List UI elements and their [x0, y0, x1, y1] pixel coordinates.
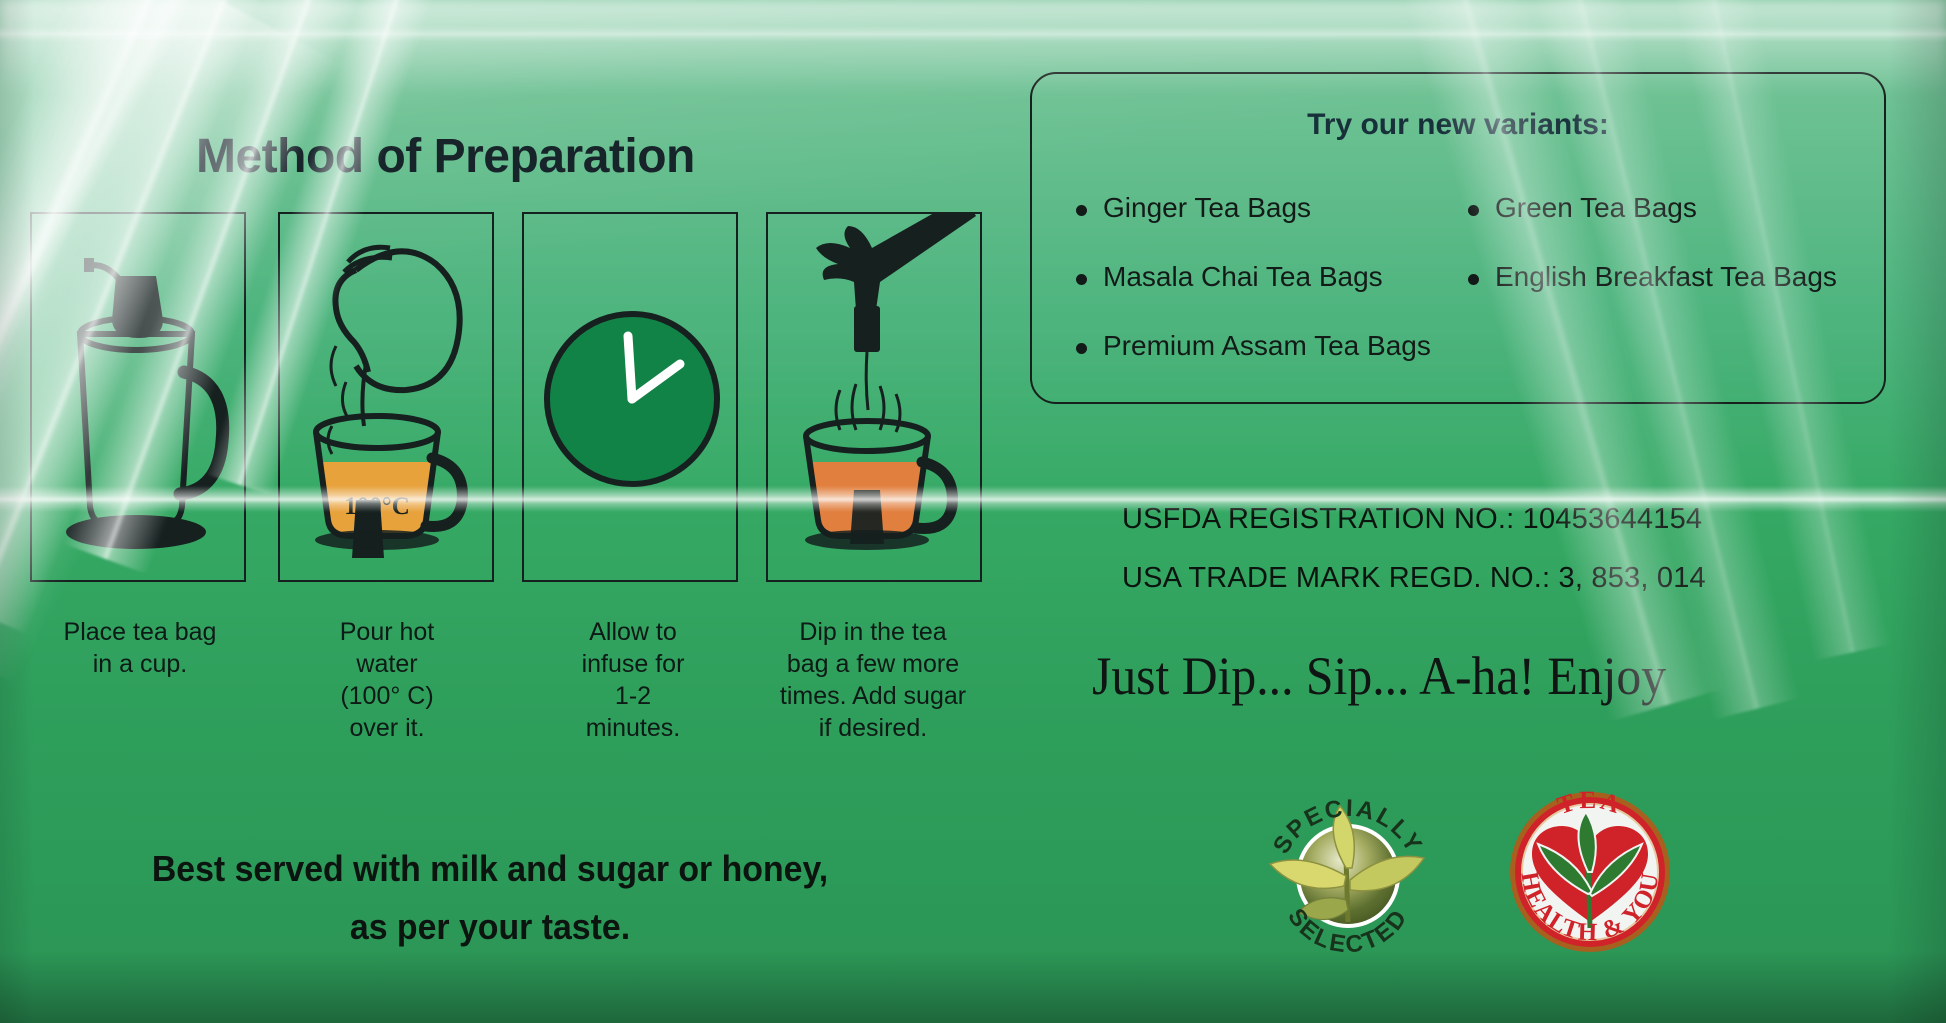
- tea-health-and-you-logo: TEA HEALTH & YOU: [1492, 770, 1688, 970]
- variant-label: Premium Assam Tea Bags: [1103, 330, 1431, 362]
- step-panel-1: [30, 212, 246, 582]
- caption-line: minutes.: [508, 712, 758, 744]
- caption-line: bag a few more: [748, 648, 998, 680]
- step-panel-3: [522, 212, 738, 582]
- caption-line: water: [262, 648, 512, 680]
- caption-line: Dip in the tea: [748, 616, 998, 648]
- step-panel-2: 100°C: [278, 212, 494, 582]
- caption-line: 1-2: [508, 680, 758, 712]
- usfda-registration-text: USFDA REGISTRATION NO.: 10453644154: [1122, 503, 1702, 536]
- variants-left-column: Ginger Tea Bags Masala Chai Tea Bags Pre…: [1076, 192, 1496, 399]
- variants-title: Try our new variants:: [1032, 108, 1884, 142]
- caption-line: (100° C): [262, 680, 512, 712]
- caption-line: if desired.: [748, 712, 998, 744]
- usa-trademark-text: USA TRADE MARK REGD. NO.: 3, 853, 014: [1122, 562, 1706, 595]
- caption-line: infuse for: [508, 648, 758, 680]
- bullet-icon: [1076, 343, 1087, 354]
- serving-suggestion-line-1: Best served with milk and sugar or honey…: [86, 840, 894, 898]
- specially-selected-logo: SPECIALLY SELECTED: [1256, 772, 1440, 972]
- bullet-icon: [1468, 205, 1479, 216]
- list-item: English Breakfast Tea Bags: [1468, 261, 1898, 293]
- bullet-icon: [1468, 274, 1479, 285]
- bullet-icon: [1076, 205, 1087, 216]
- variants-right-column: Green Tea Bags English Breakfast Tea Bag…: [1468, 192, 1898, 330]
- page-title: Method of Preparation: [196, 129, 695, 184]
- step-caption-3: Allow to infuse for 1-2 minutes.: [508, 616, 758, 744]
- variant-label: Masala Chai Tea Bags: [1103, 261, 1383, 293]
- list-item: Premium Assam Tea Bags: [1076, 330, 1496, 362]
- clock-icon: [524, 214, 740, 584]
- variant-label: Green Tea Bags: [1495, 192, 1697, 224]
- variant-label: English Breakfast Tea Bags: [1495, 261, 1837, 293]
- temperature-label: 100°C: [344, 493, 410, 520]
- bullet-icon: [1076, 274, 1087, 285]
- tagline: Just Dip... Sip... A-ha! Enjoy: [1092, 645, 1666, 707]
- serving-suggestion: Best served with milk and sugar or honey…: [86, 840, 894, 957]
- step-panel-4: [766, 212, 982, 582]
- hand-dipping-teabag-icon: [768, 214, 984, 584]
- step-caption-1: Place tea bag in a cup.: [15, 616, 265, 680]
- list-item: Masala Chai Tea Bags: [1076, 261, 1496, 293]
- caption-line: Place tea bag: [15, 616, 265, 648]
- variant-label: Ginger Tea Bags: [1103, 192, 1311, 224]
- caption-line: Pour hot: [262, 616, 512, 648]
- step-caption-4: Dip in the tea bag a few more times. Add…: [748, 616, 998, 744]
- caption-line: times. Add sugar: [748, 680, 998, 712]
- variants-panel: Try our new variants: Ginger Tea Bags Ma…: [1030, 72, 1886, 404]
- caption-line: Allow to: [508, 616, 758, 648]
- tea-box-back-panel: 100°C: [0, 0, 1946, 1023]
- serving-suggestion-line-2: as per your taste.: [86, 898, 894, 956]
- caption-line: over it.: [262, 712, 512, 744]
- list-item: Green Tea Bags: [1468, 192, 1898, 224]
- teabag-into-empty-cup-icon: [32, 214, 248, 584]
- list-item: Ginger Tea Bags: [1076, 192, 1496, 224]
- kettle-pouring-hot-water-icon: 100°C: [280, 214, 496, 584]
- step-caption-2: Pour hot water (100° C) over it.: [262, 616, 512, 744]
- caption-line: in a cup.: [15, 648, 265, 680]
